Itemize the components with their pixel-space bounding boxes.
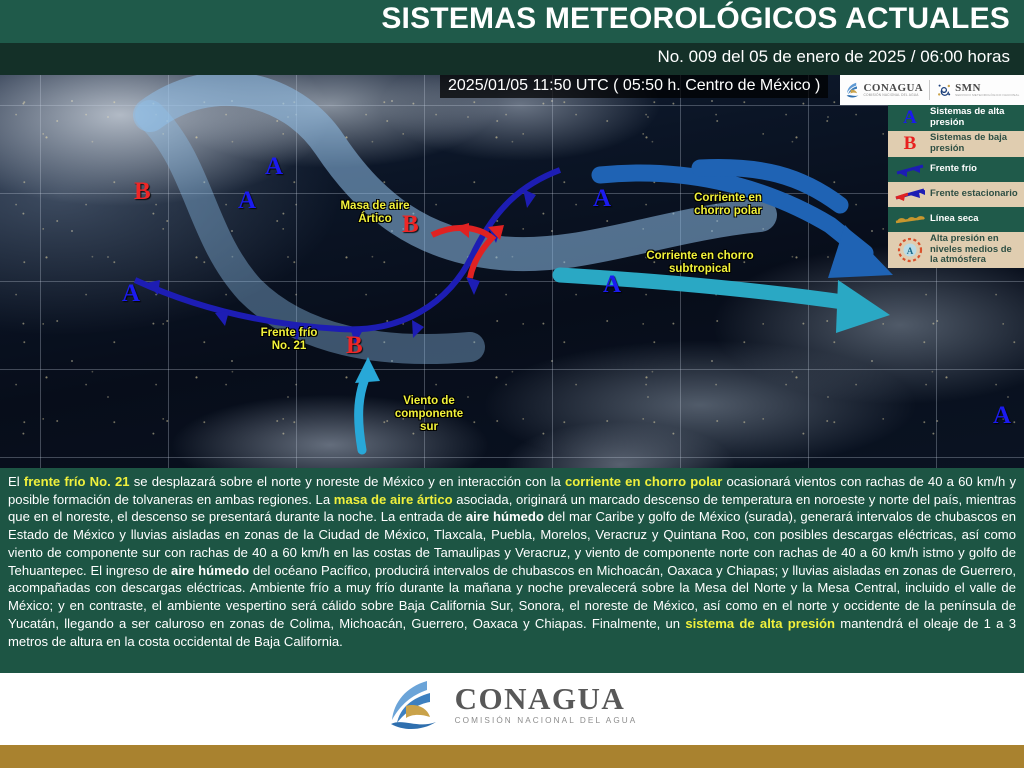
forecast-segment: El: [8, 474, 24, 489]
conagua-eagle-water-icon: [387, 678, 445, 730]
svg-text:A: A: [907, 246, 914, 256]
header-logo-strip: CONAGUA COMISIÓN NACIONAL DEL AGUA SMN S…: [840, 75, 1024, 105]
bulletin-number-date: No. 009 del 05 de enero de 2025 / 06:00 …: [657, 47, 1010, 67]
high-pressure-marker: A: [238, 187, 256, 215]
forecast-bold: aire húmedo: [171, 563, 249, 578]
legend-item: Frente estacionario: [888, 182, 1024, 207]
conagua-logo-small: CONAGUA COMISIÓN NACIONAL DEL AGUA: [845, 81, 924, 99]
page-title: SISTEMAS METEOROLÓGICOS ACTUALES: [381, 2, 1010, 36]
legend-item: BSistemas de baja presión: [888, 131, 1024, 157]
smn-spiral-icon: [936, 81, 952, 99]
legend-item-label: Frente frío: [930, 164, 977, 175]
legend-item: Frente frío: [888, 157, 1024, 182]
subtropical-jet-arrowhead: [836, 280, 890, 333]
high-pressure-marker: A: [122, 280, 140, 308]
mid-level-high-icon: A: [890, 237, 930, 263]
stationary-front-icon: [890, 187, 930, 203]
forecast-text: El frente frío No. 21 se desplazará sobr…: [0, 468, 1024, 673]
low-pressure-marker: B: [402, 211, 419, 239]
footer-logo-text: CONAGUA: [455, 683, 638, 714]
subtropical-jet-label: Corriente en chorro subtropical: [630, 250, 770, 276]
satellite-timestamp: 2025/01/05 11:50 UTC ( 05:50 h. Centro d…: [440, 75, 828, 98]
legend-item: AAlta presión en niveles medios de la at…: [888, 232, 1024, 268]
low-pressure-marker: B: [346, 332, 363, 360]
forecast-highlight: frente frío No. 21: [24, 474, 130, 489]
satellite-map[interactable]: 2025/01/05 11:50 UTC ( 05:50 h. Centro d…: [0, 75, 1024, 468]
footer-logo-subtext: COMISIÓN NACIONAL DEL AGUA: [455, 717, 638, 725]
forecast-highlight: sistema de alta presión: [685, 616, 835, 631]
polar-jet-label: Corriente en chorro polar: [678, 192, 778, 218]
high-pressure-marker: A: [593, 185, 611, 213]
legend-item-label: Frente estacionario: [930, 189, 1018, 200]
map-legend: ASistemas de alta presiónBSistemas de ba…: [888, 105, 1024, 268]
weather-overlay: [0, 75, 1024, 468]
forecast-highlight: masa de aire ártico: [334, 492, 453, 507]
cold-front-icon: [890, 163, 930, 177]
conagua-eagle-water-icon: [845, 81, 861, 99]
cold-front-label: Frente frío No. 21: [243, 327, 335, 353]
forecast-segment: se desplazará sobre el norte y noreste d…: [130, 474, 565, 489]
high-pressure-marker: A: [603, 271, 621, 299]
south-component-wind-label: Viento de componente sur: [383, 395, 475, 434]
conagua-logo-subtext: COMISIÓN NACIONAL DEL AGUA: [864, 94, 924, 97]
legend-item: ASistemas de alta presión: [888, 105, 1024, 131]
legend-item-label: Línea seca: [930, 214, 979, 225]
dry-line-icon: [890, 213, 930, 227]
legend-item-label: Sistemas de baja presión: [930, 133, 1022, 154]
forecast-highlight: corriente en chorro polar: [565, 474, 722, 489]
legend-item-label: Alta presión en niveles medios de la atm…: [930, 234, 1022, 266]
high-pressure-letter-icon: A: [890, 107, 930, 129]
high-pressure-marker: A: [265, 153, 283, 181]
south-wind-arrow-shaft: [359, 371, 368, 450]
logo-divider: [929, 80, 930, 100]
legend-item-label: Sistemas de alta presión: [930, 107, 1022, 128]
footer: CONAGUA COMISIÓN NACIONAL DEL AGUA: [0, 673, 1024, 735]
low-pressure-letter-icon: B: [890, 133, 930, 155]
conagua-footer-logo: CONAGUA COMISIÓN NACIONAL DEL AGUA: [387, 678, 638, 730]
low-pressure-marker: B: [134, 178, 151, 206]
footer-gold-bar: [0, 745, 1024, 768]
forecast-bold: aire húmedo: [466, 509, 544, 524]
smn-logo-small: SMN SERVICIO METEOROLÓGICO NACIONAL: [936, 81, 1019, 99]
legend-item: Línea seca: [888, 207, 1024, 232]
smn-logo-subtext: SERVICIO METEOROLÓGICO NACIONAL: [955, 94, 1019, 97]
high-pressure-marker: A: [993, 402, 1011, 430]
